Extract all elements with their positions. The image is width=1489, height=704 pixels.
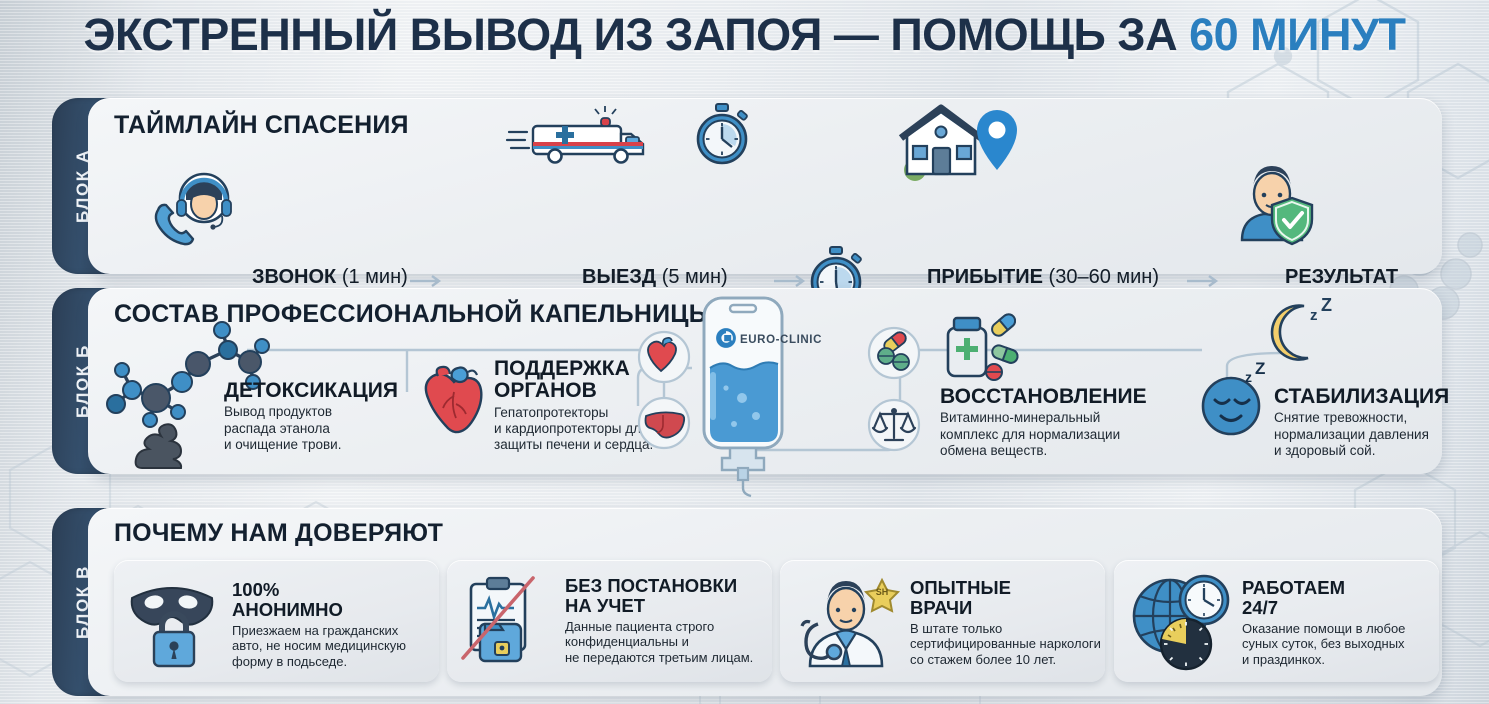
pills-node-icon <box>867 326 921 380</box>
step-a-2-title: ВЫЕЗД (5 мин) <box>582 266 771 289</box>
step-a-4-title-text: РЕЗУЛЬТАТ <box>1285 266 1398 288</box>
vitamins-pills-bottle-icon <box>932 310 1028 382</box>
item-b-4-title: СТАБИЛИЗАЦИЯ <box>1274 386 1449 408</box>
globe-clock-icon <box>1126 572 1236 672</box>
svg-text:Z: Z <box>1255 359 1265 378</box>
trust-card-no-registration[interactable]: БЕЗ ПОСТАНОВКИ НА УЧЕТ Данные пациента с… <box>447 560 772 682</box>
item-b-3: ВОССТАНОВЛЕНИЕ Витаминно-минеральный ком… <box>940 386 1147 460</box>
item-b-4: СТАБИЛИЗАЦИЯ Снятие тревожности, нормали… <box>1274 386 1449 460</box>
ambulance-stopwatch-icon <box>507 106 687 168</box>
step-a-1-paren: (1 мин) <box>342 266 408 288</box>
trust-card-no-registration-text: БЕЗ ПОСТАНОВКИ НА УЧЕТ Данные пациента с… <box>565 576 753 666</box>
block-c: БЛОК В ПОЧЕМУ НАМ ДОВЕРЯЮТ 100% АНОНИМНО… <box>52 508 1442 696</box>
trust-card-no-registration-desc: Данные пациента строго конфиденциальны и… <box>565 619 753 667</box>
page-title-highlight: 60 МИНУТ <box>1189 9 1405 60</box>
step-a-3-paren: (30–60 мин) <box>1049 266 1159 288</box>
trust-card-anonymous-text: 100% АНОНИМНО Приезжаем на гражданских а… <box>232 580 406 670</box>
item-b-1-title: ДЕТОКСИКАЦИЯ <box>224 380 398 402</box>
trust-card-doctors-desc: В штате только сертифицированные нарколо… <box>910 621 1101 669</box>
balance-scales-node-icon <box>867 398 921 452</box>
svg-text:z: z <box>1245 369 1252 385</box>
arrow-right-icon-1 <box>410 274 446 288</box>
mask-padlock-icon <box>128 576 220 672</box>
block-c-heading: ПОЧЕМУ НАМ ДОВЕРЯЮТ <box>114 519 443 548</box>
block-b: БЛОК Б СОСТАВ ПРОФЕССИОНАЛЬНОЙ КАПЕЛЬНИЦ… <box>52 288 1442 474</box>
trust-card-24-7-title: РАБОТАЕМ 24/7 <box>1242 578 1405 618</box>
svg-text:z: z <box>1310 307 1318 324</box>
sleeping-face-moon-icon: z Z <box>1197 364 1275 438</box>
trust-card-anonymous-title: 100% АНОНИМНО <box>232 580 406 620</box>
item-b-4-desc: Снятие тревожности, нормализации давлени… <box>1274 410 1449 459</box>
iv-bag-brand-text: EURO-CLINIC <box>740 334 822 346</box>
house-map-pin-icon <box>897 106 1027 184</box>
step-a-1-title-text: ЗВОНОК <box>252 266 336 288</box>
heart-organ-icon <box>424 366 486 436</box>
iv-bag-icon: EURO-CLINIC <box>692 292 802 490</box>
step-a-3-title: ПРИБЫТИЕ (30–60 мин) <box>927 266 1159 289</box>
trust-card-no-registration-title: БЕЗ ПОСТАНОВКИ НА УЧЕТ <box>565 576 753 616</box>
stopwatch-icon-1 <box>690 103 754 167</box>
page-title: ЭКСТРЕННЫЙ ВЫВОД ИЗ ЗАПОЯ — ПОМОЩЬ ЗА 60… <box>0 9 1489 61</box>
step-a-4-title: РЕЗУЛЬТАТ <box>1285 266 1442 289</box>
item-b-1: ДЕТОКСИКАЦИЯ Вывод продуктов распада эта… <box>224 380 398 454</box>
item-b-3-title: ВОССТАНОВЛЕНИЕ <box>940 386 1147 408</box>
liver-node-icon <box>637 396 691 450</box>
step-a-1-title: ЗВОНОК (1 мин) <box>252 266 410 289</box>
step-a-2-paren: (5 мин) <box>662 266 728 288</box>
clipboard-crossed-folder-lock-icon <box>457 574 553 670</box>
operator-headset-phone-icon <box>152 170 236 254</box>
trust-card-24-7-desc: Оказание помощи в любое суных суток, без… <box>1242 621 1405 669</box>
item-b-1-desc: Вывод продуктов распада этанола и очищен… <box>224 404 398 453</box>
svg-text:Z: Z <box>1321 295 1332 315</box>
page-title-main: ЭКСТРЕННЫЙ ВЫВОД ИЗ ЗАПОЯ — ПОМОЩЬ ЗА <box>84 9 1190 60</box>
step-a-3-title-text: ПРИБЫТИЕ <box>927 266 1043 288</box>
item-b-3-desc: Витаминно-минеральный комплекс для норма… <box>940 410 1147 459</box>
arrow-right-icon-3 <box>1187 274 1223 288</box>
heart-node-icon <box>637 330 691 384</box>
step-a-2-title-text: ВЫЕЗД <box>582 266 656 288</box>
trust-card-anonymous-desc: Приезжаем на гражданских авто, не носим … <box>232 623 406 671</box>
patient-shield-check-icon <box>1232 160 1318 246</box>
trust-card-anonymous[interactable]: 100% АНОНИМНО Приезжаем на гражданских а… <box>114 560 439 682</box>
block-a: БЛОК А ТАЙМЛАЙН СПАСЕНИЯ ЗВОНОК (1 мин) … <box>52 98 1442 274</box>
trust-card-24-7-text: РАБОТАЕМ 24/7 Оказание помощи в любое су… <box>1242 578 1405 668</box>
trust-card-doctors[interactable]: SH ОПЫТНЫЕ ВРАЧИ В штате только сертифиц… <box>780 560 1105 682</box>
item-b-2-title: ПОДДЕРЖКА ОРГАНОВ <box>494 358 653 403</box>
moon-zzz-icon: z Z <box>1264 298 1338 366</box>
block-a-heading: ТАЙМЛАЙН СПАСЕНИЯ <box>114 111 409 140</box>
trust-card-doctors-text: ОПЫТНЫЕ ВРАЧИ В штате только сертифициро… <box>910 578 1101 668</box>
item-b-2: ПОДДЕРЖКА ОРГАНОВ Гепатопротекторы и кар… <box>494 358 653 454</box>
doctor-star-badge-text: SH <box>876 587 889 597</box>
trust-card-24-7[interactable]: РАБОТАЕМ 24/7 Оказание помощи в любое су… <box>1114 560 1439 682</box>
item-b-2-desc: Гепатопротекторы и кардиопротекторы для … <box>494 405 653 454</box>
doctor-stethoscope-star-icon: SH <box>788 572 904 676</box>
trust-card-doctors-title: ОПЫТНЫЕ ВРАЧИ <box>910 578 1101 618</box>
